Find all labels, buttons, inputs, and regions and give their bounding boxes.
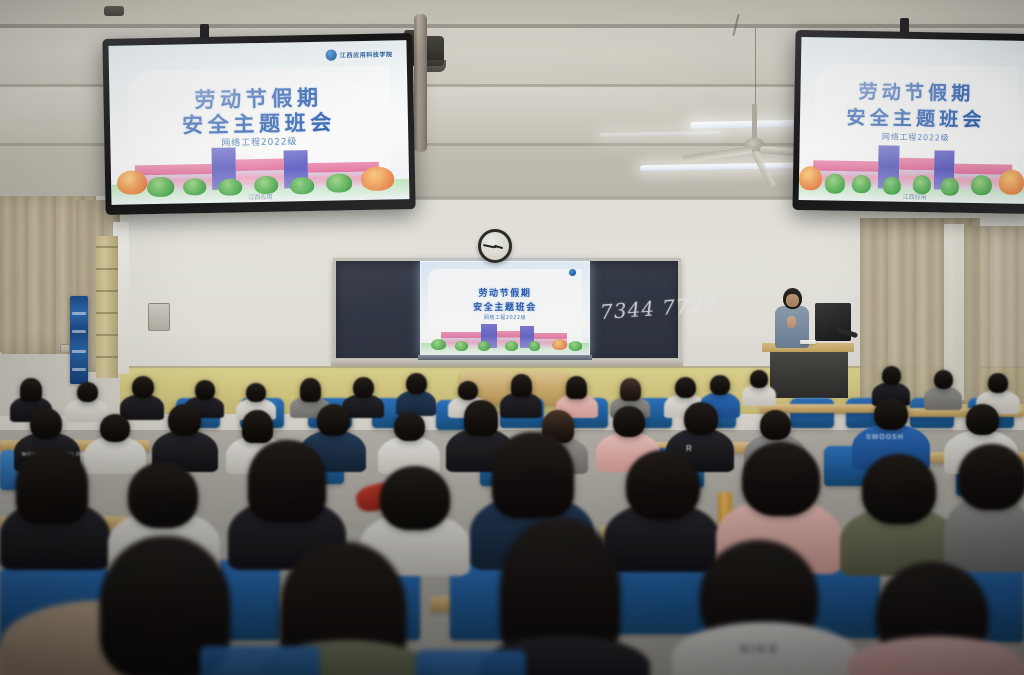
chalk-tray [331, 359, 683, 366]
student-head [317, 404, 350, 436]
ceiling-hanging-pole [414, 14, 427, 152]
right-wall-tv: 劳动节假期 安全主题班会 网络工程2022级 [792, 30, 1024, 214]
student-head [566, 376, 587, 399]
school-logo-icon [326, 49, 337, 60]
student-head [132, 376, 154, 398]
student-head [458, 381, 478, 400]
campus-illustration: 江西应用 [799, 128, 1024, 204]
student-head [626, 450, 700, 520]
student-head [77, 382, 98, 402]
student-head [464, 400, 498, 436]
electrical-panel[interactable] [148, 303, 170, 331]
left-wall-tv: 江西应用科技学院 劳动节假期 安全主题班会 网络工程2022级 [102, 33, 415, 215]
student-head [882, 366, 901, 385]
slide-logo-icon [569, 269, 576, 276]
jacket-brand-text: SWOOSH [866, 434, 904, 441]
slide-title-line1: 劳动节假期 [421, 286, 589, 299]
clock-centre-pin [494, 245, 497, 248]
wall-ladder [96, 236, 118, 378]
fan-rod [752, 104, 757, 140]
slide-left: 江西应用科技学院 劳动节假期 安全主题班会 网络工程2022级 [108, 40, 409, 205]
student-head [20, 378, 42, 402]
school-logo-text: 江西应用科技学院 [340, 49, 393, 59]
student-head [195, 380, 215, 400]
student-head [750, 370, 768, 388]
student-shoulders [924, 386, 962, 410]
shirt-graphic-text: R [686, 444, 693, 453]
campus-illustration [421, 316, 589, 355]
slide-logo: 江西应用科技学院 [326, 48, 393, 60]
student-head [242, 410, 273, 443]
wall-banner [70, 296, 88, 384]
student-head [710, 375, 730, 395]
student-head [168, 404, 201, 436]
student-head [613, 406, 645, 437]
student-head [380, 466, 450, 530]
student-head [684, 402, 718, 435]
front-projection-screen: 劳动节假期 安全主题班会 网络工程2022级 [420, 261, 590, 356]
wall-socket[interactable] [60, 344, 70, 353]
student-head [988, 373, 1008, 393]
student-head [862, 454, 936, 524]
student-head [958, 444, 1024, 510]
student-head [934, 370, 953, 389]
student-head [675, 377, 696, 398]
student-head [16, 448, 88, 524]
student-head [492, 432, 574, 518]
presenter-hand [787, 316, 796, 328]
student-head [760, 410, 791, 440]
campus-illustration: 江西应用 [110, 129, 409, 205]
slide-front: 劳动节假期 安全主题班会 网络工程2022级 [421, 262, 589, 355]
podium-monitor [815, 303, 851, 341]
student-head [620, 378, 641, 401]
presenter-face [786, 294, 799, 307]
slide-title-line2: 安全主题班会 [421, 300, 589, 313]
student-head [300, 378, 321, 402]
podium-papers [800, 340, 816, 344]
shirt-graphic-text: NIKE [740, 642, 781, 656]
student-head [394, 412, 425, 441]
student-head [742, 442, 820, 516]
seat[interactable] [200, 646, 320, 675]
slide-right: 劳动节假期 安全主题班会 网络工程2022级 [799, 37, 1024, 204]
seat[interactable] [416, 650, 526, 675]
wall-clock [478, 229, 512, 263]
student-head [100, 414, 130, 442]
student-head [511, 374, 532, 397]
student-head [353, 377, 374, 398]
student-head [246, 383, 266, 402]
podium-cabinet [770, 352, 848, 398]
student-head [128, 462, 198, 528]
student-head [874, 398, 908, 430]
projection-screen-frame [418, 355, 592, 360]
student-head [30, 408, 62, 439]
seat[interactable] [790, 398, 834, 428]
student-head [406, 373, 427, 394]
lecture-hall-photo: 7344 7727 劳动节假期 安全主题班会 网络工程2022级 [0, 0, 1024, 675]
ceiling-speaker [104, 6, 124, 16]
student-head [248, 440, 326, 522]
student-head [966, 404, 999, 435]
fan-wire [755, 28, 756, 106]
ceiling-beam [0, 24, 1024, 28]
